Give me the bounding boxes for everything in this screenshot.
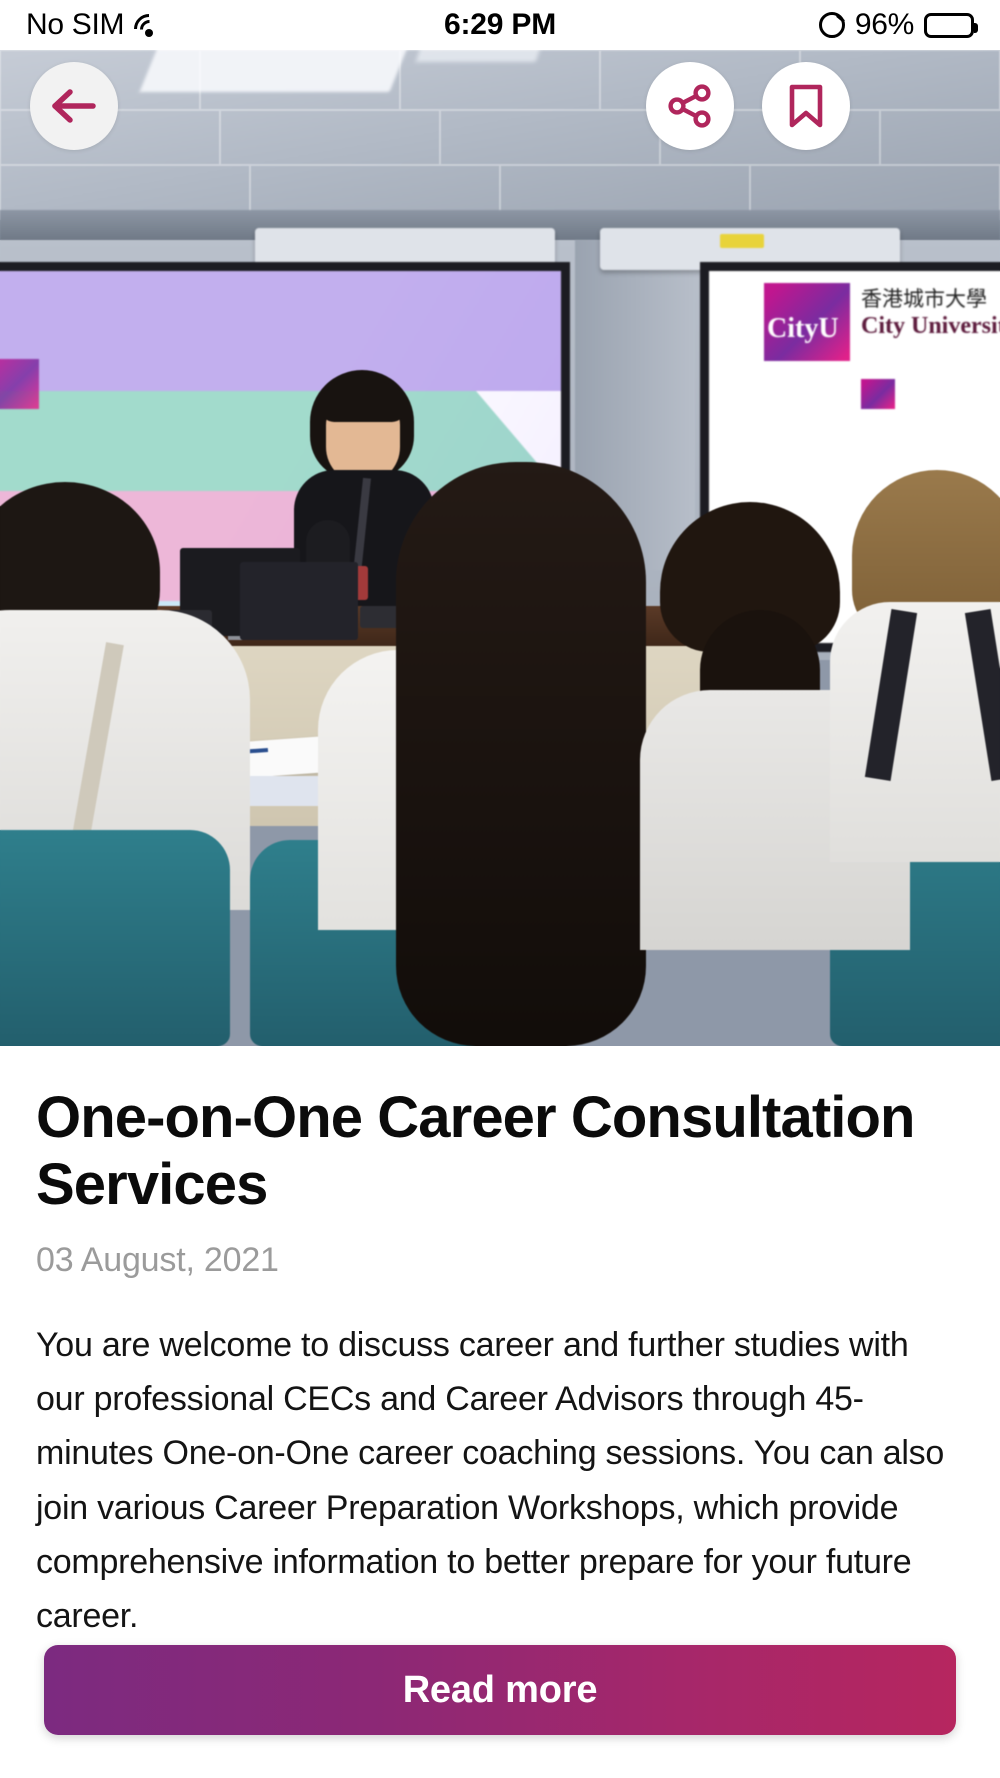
bookmark-button[interactable] [762, 62, 850, 150]
status-bar: No SIM 6:29 PM 96% [0, 0, 1000, 50]
share-icon [668, 84, 712, 128]
hero-soft-focus [0, 50, 1000, 1046]
battery-icon [924, 13, 974, 38]
article-body: You are welcome to discuss career and fu… [36, 1318, 964, 1644]
share-button[interactable] [646, 62, 734, 150]
hero-image: Hong Kong CityU Careers Festival 2019 FR… [0, 50, 1000, 1046]
status-bar-left: No SIM [26, 8, 164, 42]
arrow-left-icon [51, 87, 97, 125]
rotation-lock-icon [819, 12, 845, 38]
battery-percent-label: 96% [855, 8, 914, 42]
wifi-icon [134, 14, 164, 37]
carrier-label: No SIM [26, 8, 124, 42]
article-detail-screen: No SIM 6:29 PM 96% [0, 0, 1000, 1778]
page-title: One-on-One Career Consultation Services [36, 1084, 964, 1219]
read-more-button[interactable]: Read more [44, 1645, 956, 1735]
article-date: 03 August, 2021 [36, 1241, 964, 1280]
status-bar-right: 96% [819, 8, 974, 42]
back-button[interactable] [30, 62, 118, 150]
bookmark-icon [787, 83, 825, 129]
